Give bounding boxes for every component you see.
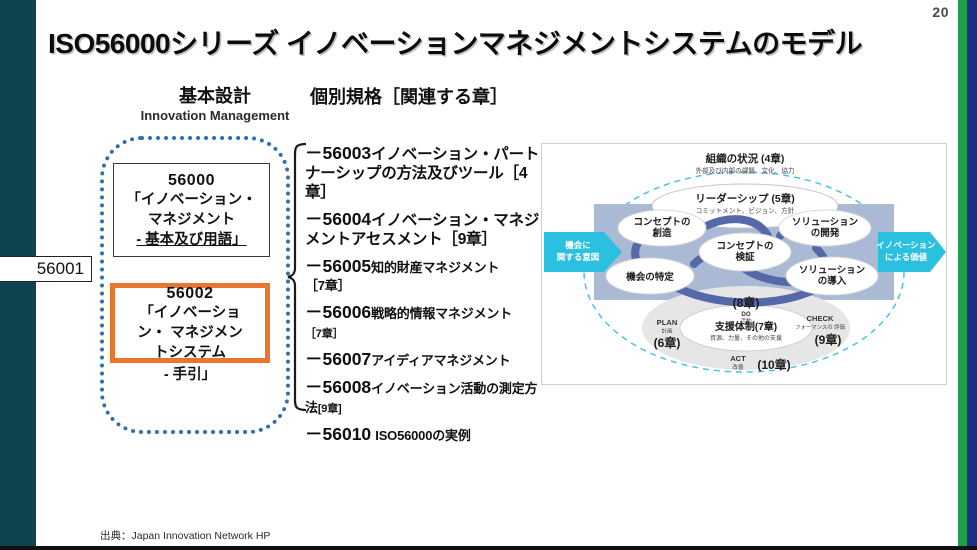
process-node-solution-development: ソリューション の開発 [779, 210, 871, 246]
standard-box-56002-line2: ン・ マネジメン [137, 324, 243, 344]
column-header-basic-design: 基本設計 [135, 82, 295, 108]
node-label-solution-development-2: の開発 [811, 227, 840, 239]
pdca-plan-chapter: (6章) [654, 335, 681, 350]
spec-item-56006: －56006戦略的情報マネジメント ［7章］ [305, 302, 545, 343]
standard-box-56000-number: 56000 [168, 170, 215, 192]
ims-model-svg: コンセプトの 創造 ソリューション の開発 コンセプトの 検証 機会の特定 ソリ… [542, 144, 946, 384]
output-arrow-label-1: イノベーション [876, 240, 936, 250]
pdca-do-en: DO [741, 311, 750, 318]
node-label-concept-creation-2: 創造 [651, 227, 672, 239]
pdca-act-en: ACT [730, 354, 746, 363]
process-node-solution-deployment: ソリューション の導入 [786, 257, 878, 295]
pdca-check-jp: フォーマンスの 評価 [795, 323, 846, 331]
source-note: 出典：Japan Innovation Network HP [100, 528, 270, 543]
specs-list: －56003イノベーション・パートナーシップの方法及びツール［4章］ －5600… [305, 143, 545, 452]
standard-box-56000-line1: 「イノベーション・ [126, 191, 256, 211]
spec-item-56005: －56005知的財産マネジメント ［7章］ [305, 256, 545, 297]
pdca-plan-jp: 計画 [661, 327, 673, 335]
bottom-rule [0, 546, 977, 550]
page-title: ISO56000シリーズ イノベーションマネジメントシステムのモデル [48, 22, 862, 62]
spec-item-56004: －56004イノベーション・マネジメントアセスメント［9章］ [305, 209, 545, 250]
node-label-solution-deployment-2: の導入 [818, 275, 847, 287]
spec-item-56007: －56007アイディアマネジメント [305, 349, 545, 371]
standard-box-56000-line2: マネジメント [148, 211, 235, 231]
pdca-act-chapter: (10章) [757, 357, 790, 372]
pdca-plan-en: PLAN [657, 318, 678, 327]
output-arrow-label-2: による価値 [885, 252, 928, 262]
spec-item-56008: －56008イノベーション活動の測定方法[9章] [305, 377, 545, 418]
column-header-basic-design-en: Innovation Management [120, 108, 310, 123]
spec-code-56008: －56008 [305, 377, 371, 397]
node-label-concept-validation-1: コンセプトの [716, 240, 773, 252]
node-label-opportunity-identification-1: 機会の特定 [626, 271, 674, 283]
standard-box-56000-line3: - 基本及び用語」 [136, 231, 246, 251]
spec-body-56005: 知的財産マネジメント [371, 260, 499, 275]
context-title-label: 組織の状況 (4章) [706, 152, 785, 165]
spec-code-56003: －56003 [305, 143, 371, 163]
spec-body-56006: 戦略的情報マネジメント [371, 306, 512, 321]
support-sub-label: 資源、力量、その他の支援 [710, 334, 782, 342]
column-header-individual-specs: 個別規格［関連する章］ [310, 83, 508, 109]
spec-chapter-56006: ［7章］ [305, 328, 343, 340]
spec-code-56004: －56004 [305, 209, 371, 229]
standard-box-56002-number: 56002 [167, 283, 214, 305]
leadership-sub-label: コミットメント、ビジョン、方針 [696, 206, 795, 215]
standard-box-56002-line3: トシステム [154, 344, 226, 364]
ims-model-diagram: コンセプトの 創造 ソリューション の開発 コンセプトの 検証 機会の特定 ソリ… [541, 143, 947, 385]
standard-box-56002[interactable]: 56002 「イノベーショ ン・ マネジメン トシステム [110, 283, 270, 363]
leadership-title-label: リーダーシップ (5章) [695, 192, 795, 205]
process-node-concept-creation: コンセプトの 創造 [618, 210, 706, 246]
node-label-solution-deployment-1: ソリューション [799, 265, 865, 276]
pdca-do-chapter: (8章) [733, 295, 760, 310]
support-title-label: 支援体制(7章) [714, 320, 777, 333]
right-green-accent-bar [958, 0, 967, 550]
standard-box-56001-label: 56001 [37, 259, 84, 279]
pdca-check-en: CHECK [806, 314, 834, 323]
spec-body-56007: アイディアマネジメント [371, 353, 510, 368]
page-number: 20 [932, 4, 949, 20]
node-label-solution-development-1: ソリューション [792, 217, 858, 228]
standard-box-56001[interactable]: 56001 [0, 256, 92, 282]
spec-item-56010: －56010 ISO56000の実例 [305, 424, 545, 446]
spec-code-56005: －56005 [305, 256, 371, 276]
slide-canvas: 20 ISO56000シリーズ イノベーションマネジメントシステムのモデル 基本… [0, 0, 977, 550]
spec-item-56003: －56003イノベーション・パートナーシップの方法及びツール［4章］ [305, 143, 545, 203]
spec-body-56010: ISO56000の実例 [375, 428, 470, 443]
output-arrow: イノベーション による価値 [876, 232, 946, 272]
pdca-check-chapter: (9章) [815, 332, 842, 347]
spec-chapter-56008: [9章] [318, 403, 342, 415]
node-label-concept-creation-1: コンセプトの [633, 216, 690, 228]
pdca-act-jp: 改善 [732, 363, 744, 371]
input-arrow-label-2: 関する意図 [557, 252, 600, 262]
process-node-opportunity-identification: 機会の特定 [606, 258, 694, 294]
process-node-concept-validation: コンセプトの 検証 [699, 233, 791, 271]
right-blue-accent-bar [967, 0, 977, 550]
standard-box-56002-line4: - 手引」 [110, 363, 270, 384]
context-sub-label: 外部及び内部の課題、文化、協力 [696, 166, 795, 175]
input-arrow-label-1: 機会に [565, 240, 591, 250]
spec-code-56010: －56010 [305, 424, 371, 444]
standard-box-56002-line1: 「イノベーショ [139, 304, 240, 324]
spec-code-56006: －56006 [305, 302, 371, 322]
standard-box-56000[interactable]: 56000 「イノベーション・ マネジメント - 基本及び用語」 [113, 163, 270, 257]
node-label-concept-validation-2: 検証 [735, 251, 755, 263]
spec-code-56007: －56007 [305, 349, 371, 369]
spec-chapter-56005: ［7章］ [305, 278, 350, 293]
